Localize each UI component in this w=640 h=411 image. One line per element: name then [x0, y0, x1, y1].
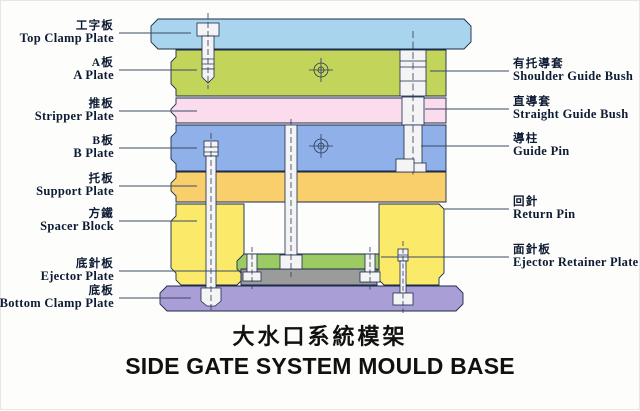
- diagram-page: .ol{stroke:#1b2a4a;stroke-width:0.9;} .o…: [0, 0, 640, 410]
- label-en: Guide Pin: [513, 145, 570, 159]
- label-en: Shoulder Guide Bush: [513, 70, 633, 84]
- guide-pin-assembly: [400, 31, 426, 176]
- label-spacer-block: 方鐵 Spacer Block: [40, 208, 114, 234]
- label-en: Return Pin: [513, 208, 575, 222]
- label-en: Top Clamp Plate: [20, 32, 114, 46]
- title-english: SIDE GATE SYSTEM MOULD BASE: [1, 353, 639, 380]
- diagram-title: 大水口系統模架 SIDE GATE SYSTEM MOULD BASE: [1, 319, 639, 380]
- label-en: Stripper Plate: [35, 110, 114, 124]
- label-en: Support Plate: [36, 185, 114, 199]
- label-return-pin: 回針 Return Pin: [513, 196, 575, 222]
- label-shoulder-guide-bush: 有托導套 Shoulder Guide Bush: [513, 58, 633, 84]
- label-top-clamp-plate: 工字板 Top Clamp Plate: [20, 20, 114, 46]
- spacer-block-right: [379, 204, 444, 285]
- label-ejector-retainer-plate: 面針板 Ejector Retainer Plate: [513, 244, 639, 270]
- label-b-plate: B板 B Plate: [73, 135, 114, 161]
- title-chinese: 大水口系統模架: [1, 319, 639, 351]
- label-en: Straight Guide Bush: [513, 108, 628, 122]
- label-en: Bottom Clamp Plate: [0, 297, 114, 311]
- label-a-plate: A板 A Plate: [73, 57, 114, 83]
- label-en: Ejector Plate: [41, 270, 114, 284]
- label-en: Ejector Retainer Plate: [513, 256, 639, 270]
- label-en: A Plate: [73, 69, 114, 83]
- label-stripper-plate: 推板 Stripper Plate: [35, 98, 114, 124]
- label-straight-guide-bush: 直導套 Straight Guide Bush: [513, 96, 628, 122]
- label-en: Spacer Block: [40, 220, 114, 234]
- label-bottom-clamp-plate: 底板 Bottom Clamp Plate: [0, 285, 114, 311]
- support-plate-screw: [396, 159, 414, 172]
- label-support-plate: 托板 Support Plate: [36, 173, 114, 199]
- label-en: B Plate: [73, 147, 114, 161]
- label-guide-pin: 導柱 Guide Pin: [513, 133, 570, 159]
- label-ejector-plate: 底針板 Ejector Plate: [41, 258, 114, 284]
